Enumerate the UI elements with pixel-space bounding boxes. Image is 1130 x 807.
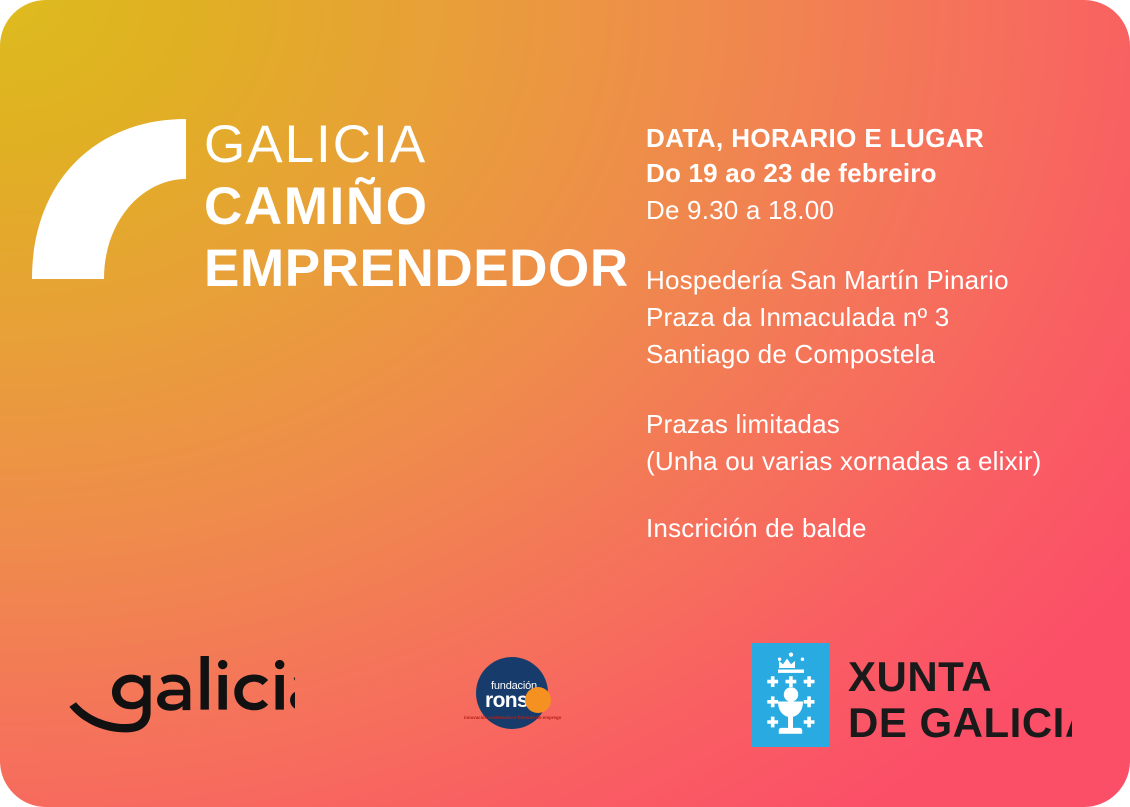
details-heading: DATA, HORARIO E LUGAR — [646, 121, 1106, 155]
logo-xunta-de-galicia: XUNTA DE GALICIA — [752, 643, 1072, 751]
places-limited: Prazas limitadas — [646, 406, 1106, 443]
venue-street: Praza da Inmaculada nº 3 — [646, 299, 1106, 336]
logo-galicia — [63, 652, 295, 752]
event-details: DATA, HORARIO E LUGAR Do 19 ao 23 de feb… — [646, 121, 1106, 547]
logo-fundacion-ronsel: fundación ronsel innovación sustentable … — [462, 655, 562, 739]
xunta-line1: XUNTA — [848, 653, 992, 700]
svg-text:innovación sustentable e fomen: innovación sustentable e fomento do empr… — [464, 715, 562, 720]
title-line-camino: CAMIÑO — [204, 180, 629, 233]
xunta-line2: DE GALICIA — [848, 699, 1072, 746]
places-note: (Unha ou varias xornadas a elixir) — [646, 443, 1106, 480]
poster-title: GALICIA CAMIÑO EMPRENDEDOR — [204, 118, 629, 295]
spacer — [646, 229, 1106, 262]
title-line-emprendedor: EMPRENDEDOR — [204, 242, 629, 295]
venue-city: Santiago de Compostela — [646, 336, 1106, 373]
event-dates: Do 19 ao 23 de febreiro — [646, 155, 1106, 192]
spacer — [646, 373, 1106, 406]
event-hours: De 9.30 a 18.00 — [646, 192, 1106, 229]
title-line-galicia: GALICIA — [204, 118, 629, 171]
quarter-arc-icon — [32, 119, 186, 279]
venue-name: Hospedería San Martín Pinario — [646, 262, 1106, 299]
poster-canvas: GALICIA CAMIÑO EMPRENDEDOR DATA, HORARIO… — [0, 0, 1130, 807]
registration-note: Inscrición de balde — [646, 510, 1106, 547]
spacer — [646, 480, 1106, 510]
